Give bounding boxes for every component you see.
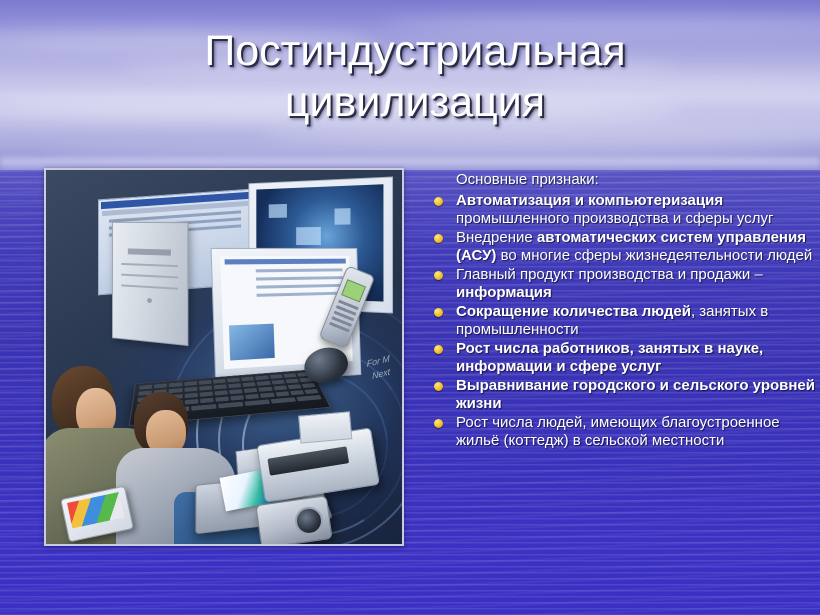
feature-text-emphasis: информация <box>456 284 552 301</box>
feature-text-emphasis: Автоматизация и компьютеризация <box>456 192 723 209</box>
bullet-dot-icon <box>434 271 443 280</box>
presentation-slide: Постиндустриальная цивилизация <box>0 0 820 615</box>
content-intro: Основные признаки: <box>456 170 816 190</box>
feature-list-item: Сокращение количества людей, занятых в п… <box>430 303 816 339</box>
feature-text-emphasis: Сокращение количества людей <box>456 303 691 320</box>
desktop-tower-icon <box>112 222 188 346</box>
feature-list-item: Главный продукт производства и продажи –… <box>430 266 816 302</box>
bullet-dot-icon <box>434 419 443 428</box>
feature-list-item: Выравнивание городского и сельского уров… <box>430 377 816 413</box>
illustration-photo: For M Next <box>44 168 404 546</box>
feature-list-item: Рост числа работников, занятых в науке, … <box>430 340 816 376</box>
feature-text: во многие сферы жизнедеятельности людей <box>496 247 812 264</box>
digital-camera-icon <box>255 495 332 546</box>
bullet-dot-icon <box>434 345 443 354</box>
slide-title: Постиндустриальная цивилизация <box>120 26 710 128</box>
bullet-dot-icon <box>434 197 443 206</box>
feature-text: промышленного производства и сферы услуг <box>456 210 773 227</box>
feature-list-item: Внедрение автоматических систем управлен… <box>430 229 816 265</box>
feature-text: Внедрение <box>456 229 537 246</box>
content-column: Основные признаки: Автоматизация и компь… <box>430 170 816 451</box>
feature-text: Главный продукт производства и продажи – <box>456 266 763 283</box>
feature-list-item: Автоматизация и компьютеризация промышле… <box>430 192 816 228</box>
slide-title-line-2: цивилизация <box>120 77 710 128</box>
feature-text-emphasis: Выравнивание городского и сельского уров… <box>456 377 815 412</box>
feature-text: Рост числа людей, имеющих благоустроенно… <box>456 414 780 449</box>
bullet-dot-icon <box>434 234 443 243</box>
feature-text-emphasis: Рост числа работников, занятых в науке, … <box>456 340 763 375</box>
slide-title-line-1: Постиндустриальная <box>204 27 625 75</box>
bullet-dot-icon <box>434 308 443 317</box>
bullet-dot-icon <box>434 382 443 391</box>
feature-list: Автоматизация и компьютеризация промышле… <box>430 192 816 450</box>
feature-list-item: Рост числа людей, имеющих благоустроенно… <box>430 414 816 450</box>
